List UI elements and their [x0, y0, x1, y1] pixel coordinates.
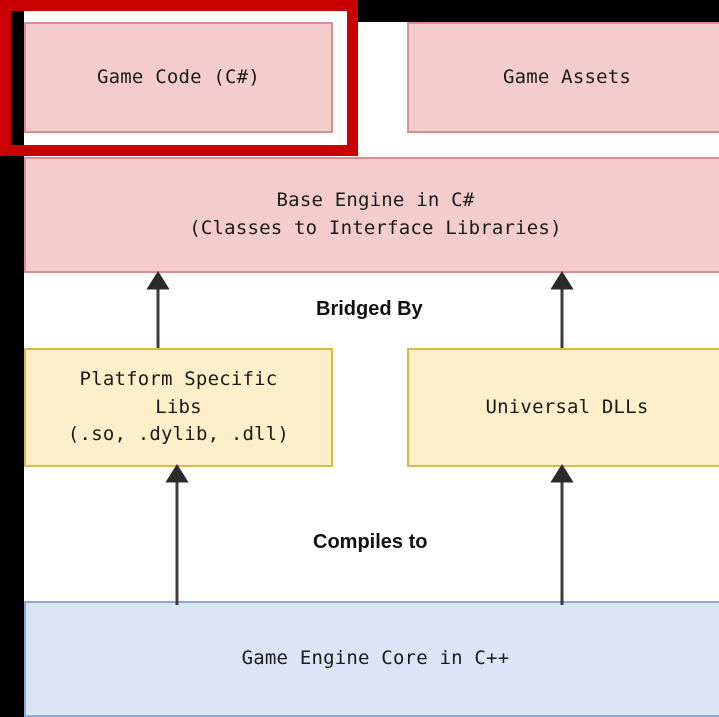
diagram-canvas: Game Code (C#) Game Assets Base Engine i…	[0, 0, 719, 717]
node-game-assets[interactable]: Game Assets	[407, 22, 719, 133]
edge-label-bridged-by: Bridged By	[316, 298, 423, 321]
node-universal-dlls[interactable]: Universal DLLs	[407, 348, 719, 467]
node-platform-specific-libs[interactable]: Platform Specific Libs (.so, .dylib, .dl…	[24, 348, 333, 467]
top-right-gutter-band	[358, 0, 719, 22]
node-base-engine[interactable]: Base Engine in C# (Classes to Interface …	[24, 157, 719, 273]
node-game-code[interactable]: Game Code (C#)	[24, 22, 333, 133]
edge-label-compiles-to: Compiles to	[313, 531, 427, 554]
node-game-engine-core[interactable]: Game Engine Core in C++	[24, 601, 719, 717]
left-gutter-band	[0, 0, 24, 717]
